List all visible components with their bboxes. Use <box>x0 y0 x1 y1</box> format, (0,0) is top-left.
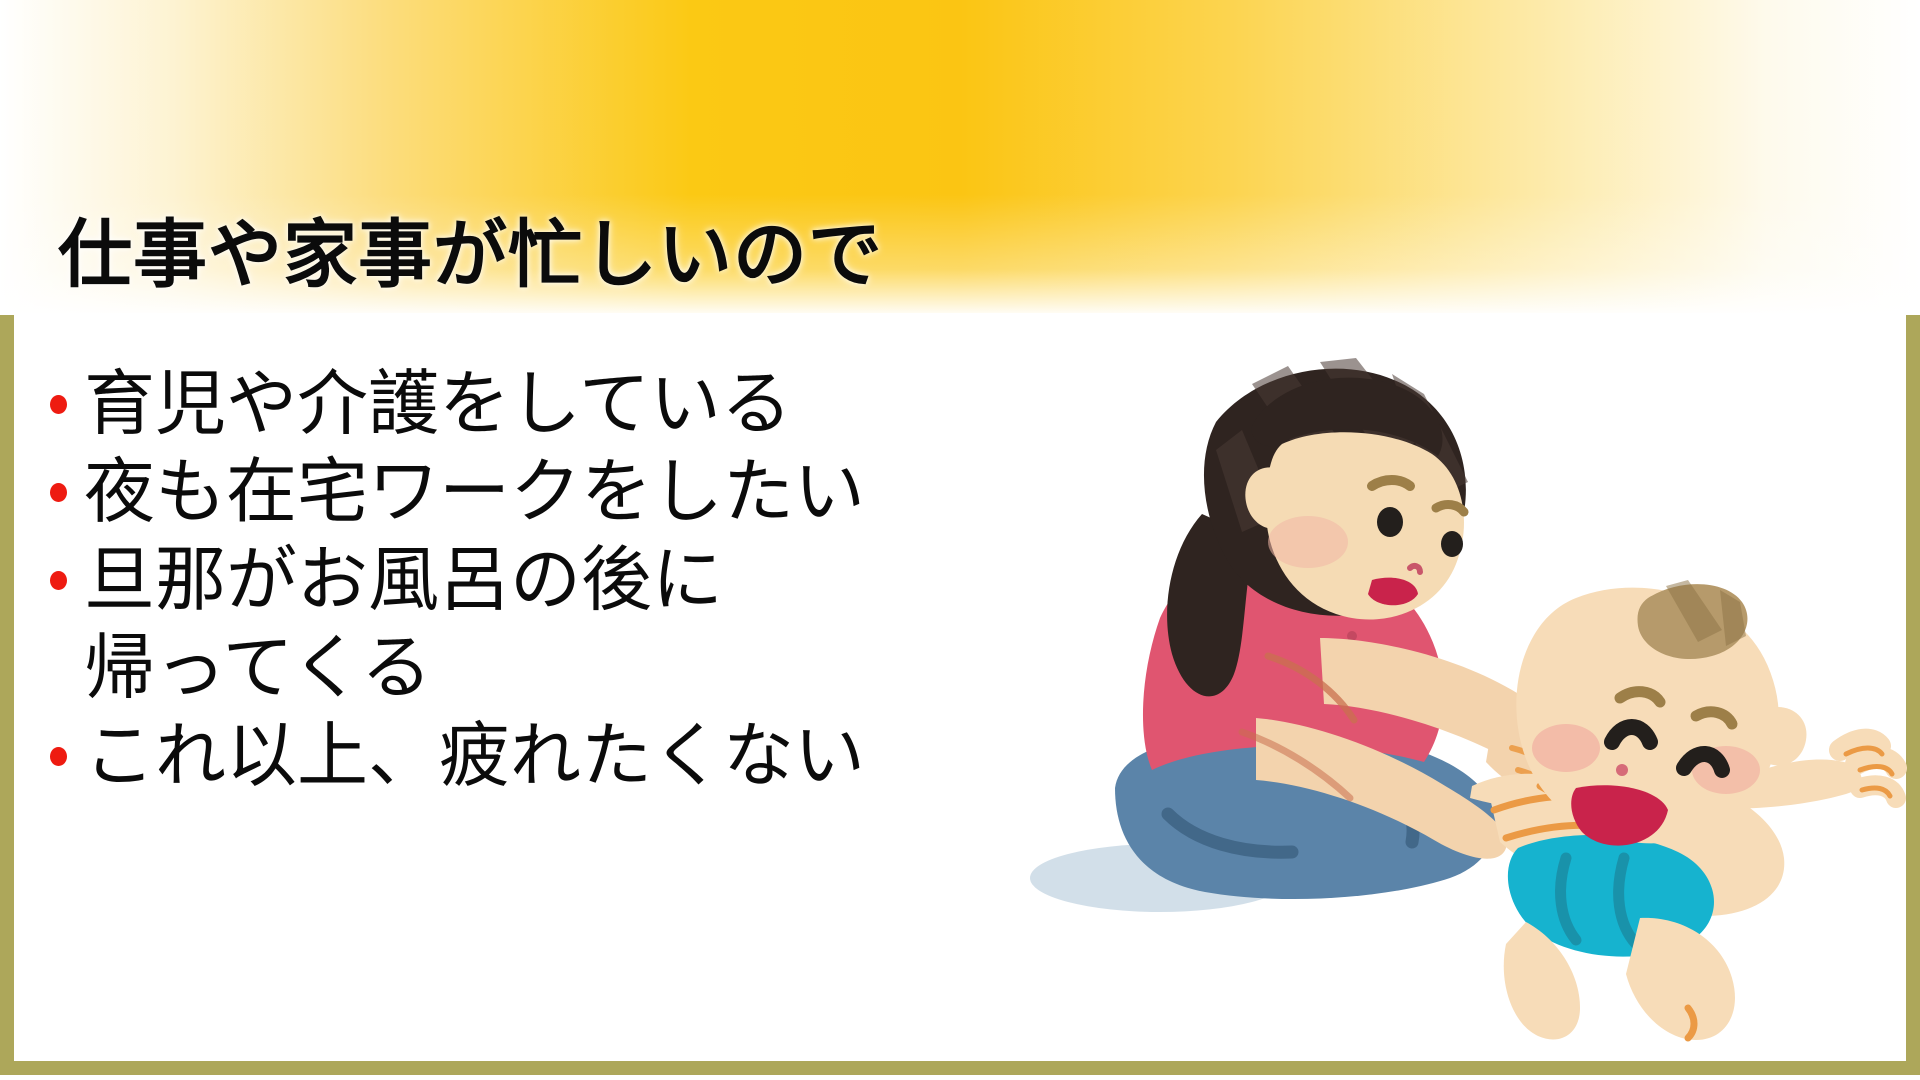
bullet-dot-placeholder <box>50 624 84 712</box>
bullet-dot-icon <box>50 536 84 624</box>
list-item-continuation: 帰ってくる <box>50 624 1060 712</box>
baby-cheek-left <box>1532 724 1600 772</box>
mother-eye-left <box>1377 507 1403 537</box>
bullet-dot-icon <box>50 360 84 448</box>
list-item: 夜も在宅ワークをしたい <box>50 448 1060 536</box>
mother-and-baby-illustration <box>1020 318 1920 1060</box>
bullet-dot-icon <box>50 712 84 800</box>
list-item: 旦那がお風呂の後に <box>50 536 1060 624</box>
list-item-label: 旦那がお風呂の後に <box>84 536 1060 624</box>
list-item: これ以上、疲れたくない <box>50 712 1060 800</box>
bullet-list: 育児や介護をしている 夜も在宅ワークをしたい 旦那がお風呂の後に 帰ってくる こ… <box>50 360 1060 800</box>
list-item-label: 育児や介護をしている <box>84 360 1060 448</box>
list-item-label: 夜も在宅ワークをしたい <box>84 448 1060 536</box>
baby-leg-front <box>1626 918 1735 1040</box>
slide-root: 仕事や家事が忙しいので 少しでも手ぶらになれる時間を長くしたい 育児や介護をして… <box>0 0 1920 1080</box>
baby-ear <box>1762 707 1806 766</box>
bullet-dot-icon <box>50 448 84 536</box>
list-item-label: これ以上、疲れたくない <box>84 712 1060 800</box>
mother-cheek <box>1268 516 1348 568</box>
page-title-line-1: 仕事や家事が忙しいので <box>58 210 1858 300</box>
baby-nose <box>1616 764 1628 776</box>
list-item: 育児や介護をしている <box>50 360 1060 448</box>
mother-eye-right <box>1441 531 1463 557</box>
list-item-label: 帰ってくる <box>84 624 1060 712</box>
